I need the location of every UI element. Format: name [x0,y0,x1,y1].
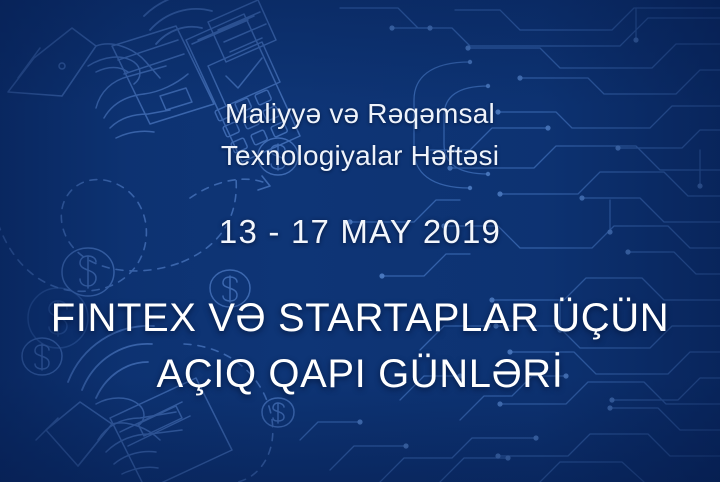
banner-text-block: Maliyyə və Rəqəmsal Texnologiyalar Həftə… [0,0,720,482]
event-title-line-1: Maliyyə və Rəqəmsal [0,98,720,130]
event-headline-line-2: AÇIQ QAPI GÜNLƏRİ [0,352,720,397]
event-banner: Maliyyə və Rəqəmsal Texnologiyalar Həftə… [0,0,720,482]
event-date: 13 - 17 MAY 2019 [0,213,720,251]
event-title-line-2: Texnologiyalar Həftəsi [0,140,720,172]
event-headline-line-1: FINTEX VƏ STARTAPLAR ÜÇÜN [0,296,720,341]
